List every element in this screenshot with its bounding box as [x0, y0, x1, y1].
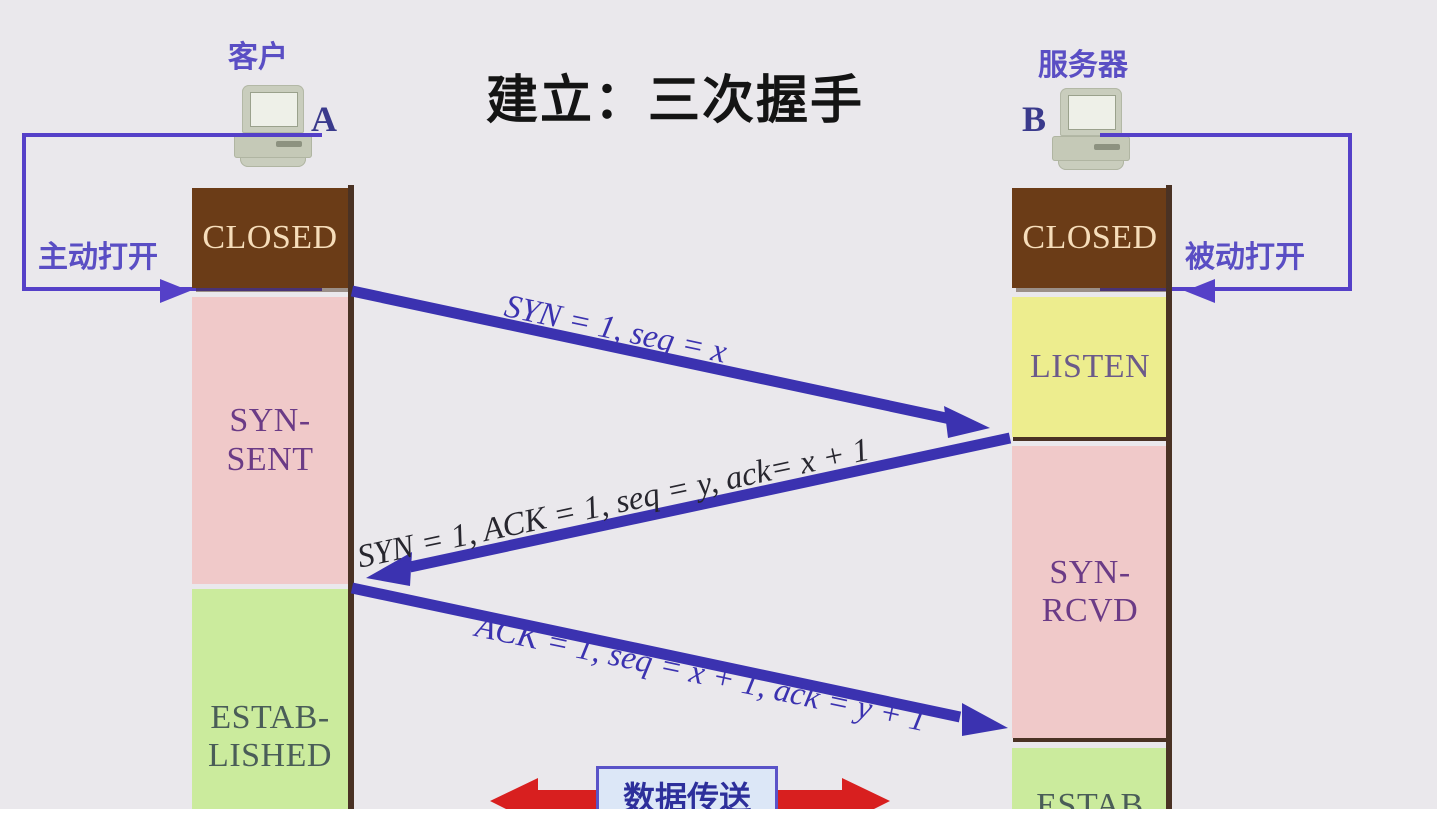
- page-title: 建立：三次握手: [440, 58, 910, 133]
- message-label-syn-ack: SYN = 1, ACK = 1, seq = y, ack= x + 1: [354, 432, 873, 577]
- active-open-label: 主动打开: [38, 232, 158, 276]
- client-state-syn-sent: SYN- SENT: [192, 297, 348, 584]
- server-name-label: 服务器: [1038, 40, 1128, 84]
- client-state-closed: CLOSED: [192, 188, 348, 288]
- message-arrow-syn: [352, 291, 990, 438]
- server-state-closed: CLOSED: [1012, 188, 1168, 288]
- passive-open-label: 被动打开: [1185, 232, 1305, 276]
- client-lifeline: [348, 185, 354, 825]
- state-label-line2: LISHED: [208, 737, 332, 775]
- monitor-screen: [1068, 95, 1116, 130]
- state-label: CLOSED: [1022, 219, 1157, 257]
- state-label: LISTEN: [1030, 348, 1150, 386]
- server-state-listen: LISTEN: [1012, 297, 1168, 437]
- message-label-syn: SYN = 1, seq = x: [501, 288, 730, 371]
- bottom-white-strip: [0, 809, 1437, 825]
- server-letter-label: B: [1022, 98, 1046, 140]
- message-label-ack: ACK = 1, seq = x + 1, ack = y + 1: [472, 608, 929, 740]
- state-label-line1: ESTAB-: [210, 699, 329, 737]
- state-label-line1: SYN-: [1049, 554, 1130, 592]
- client-state-established: ESTAB- LISHED: [192, 589, 348, 825]
- state-label-line2: RCVD: [1042, 592, 1138, 630]
- client-name-label: 客户: [228, 32, 288, 76]
- state-label: CLOSED: [202, 219, 337, 257]
- state-label-line1: SYN-: [229, 402, 310, 440]
- server-state-syn-rcvd: SYN- RCVD: [1012, 446, 1168, 738]
- message-arrow-syn-ack: [366, 438, 1010, 586]
- diagram-canvas: 建立：三次握手 主动打开 被动打开 客户 A 服务器 B CLOSED SYN-…: [0, 0, 1437, 825]
- state-label-line2: SENT: [227, 441, 314, 479]
- server-lifeline: [1166, 185, 1172, 825]
- monitor-screen: [250, 92, 298, 127]
